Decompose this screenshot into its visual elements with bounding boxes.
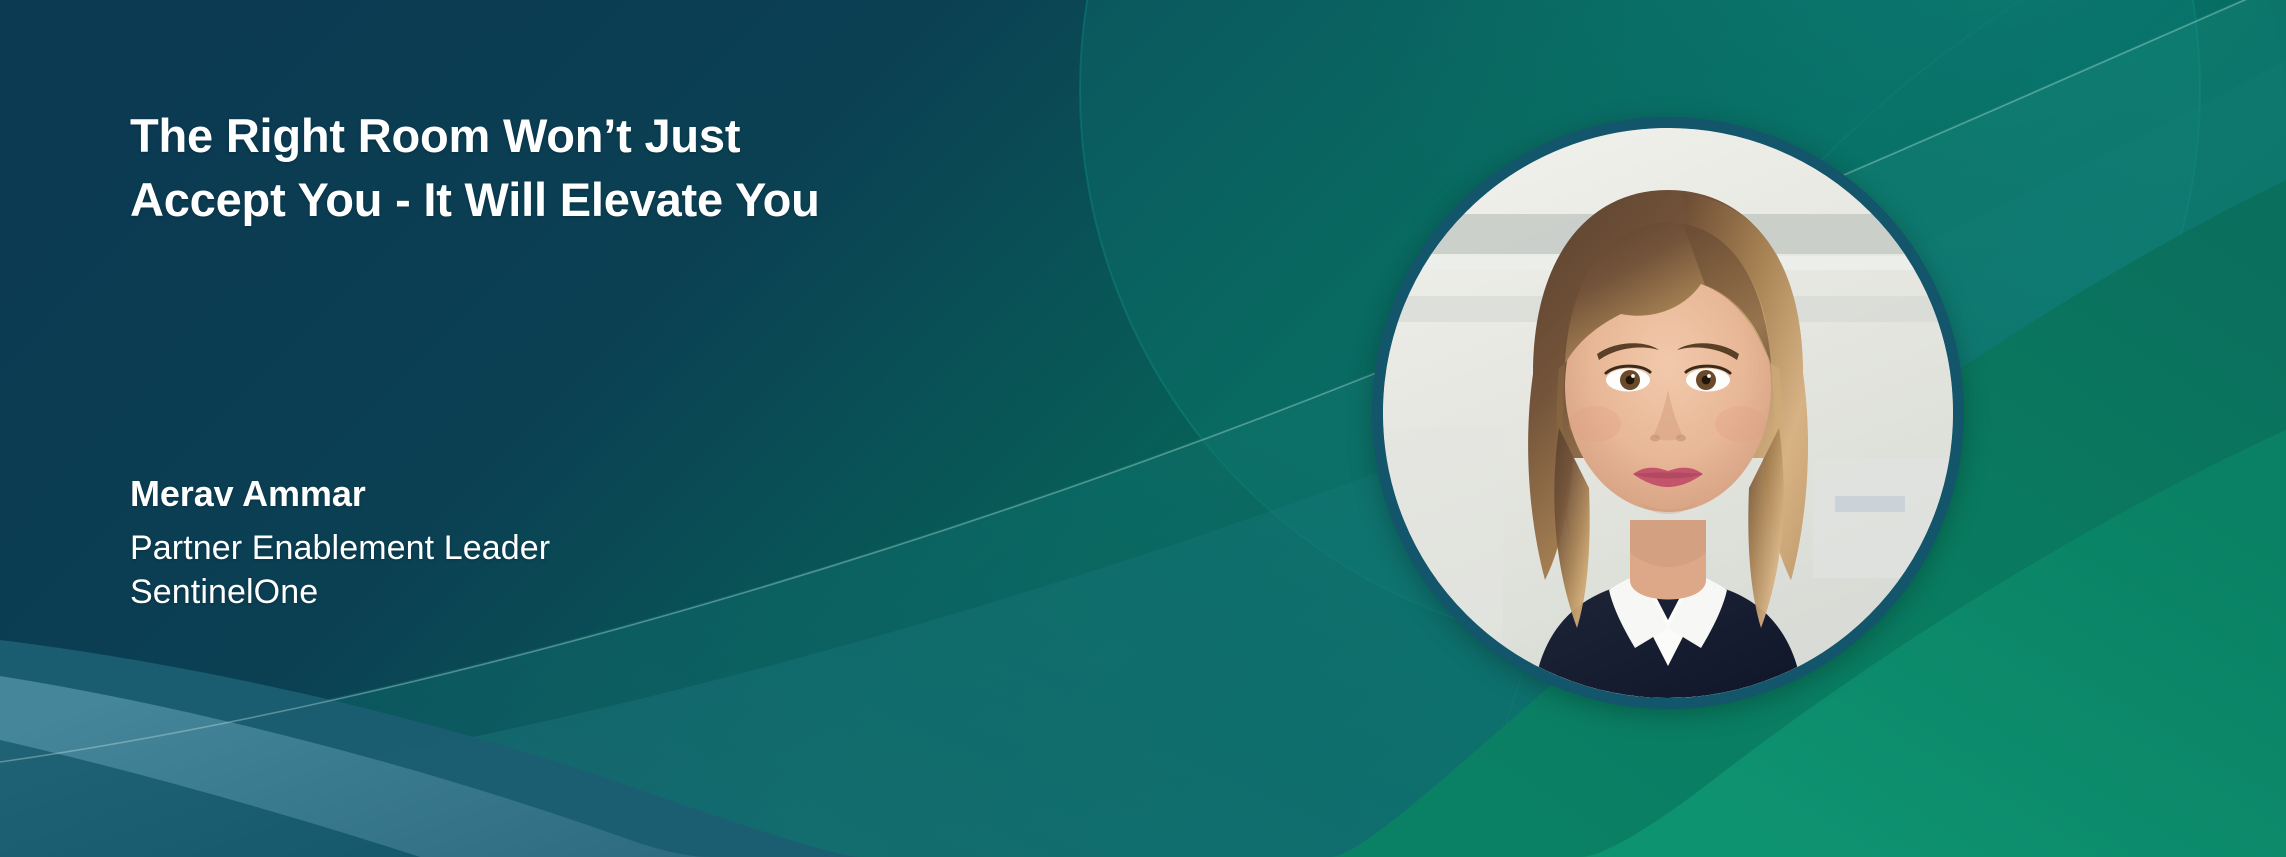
speaker-banner: The Right Room Won’t Just Accept You - I… bbox=[0, 0, 2286, 857]
portrait-clip bbox=[1383, 128, 1953, 698]
portrait-image bbox=[1383, 128, 1953, 698]
speaker-portrait bbox=[1372, 117, 1964, 709]
